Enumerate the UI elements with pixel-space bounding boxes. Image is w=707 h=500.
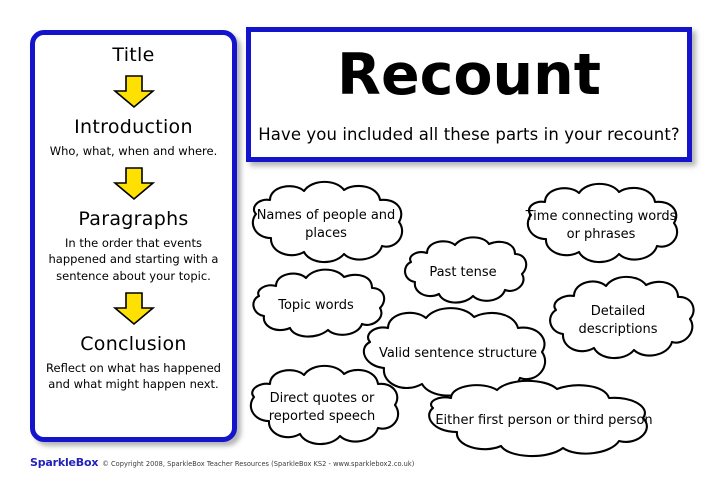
cloud-names-of-people: Names of people and places (236, 180, 416, 270)
step-heading: Conclusion (80, 334, 187, 356)
step-heading: Title (112, 45, 154, 67)
copyright-text: © Copyright 2008, SparkleBox Teacher Res… (102, 460, 414, 468)
step-description: Reflect on what has happened and what mi… (41, 360, 226, 393)
cloud-checklist-area: Names of people and places Time connecti… (236, 170, 702, 460)
step-description: In the order that events happened and st… (41, 235, 226, 284)
down-arrow-icon (112, 75, 156, 109)
step-description: Who, what, when and where. (50, 143, 218, 159)
structure-step-paragraphs: Paragraphs In the order that events happ… (41, 209, 226, 284)
page-subtitle: Have you included all these parts in you… (258, 125, 680, 144)
structure-step-introduction: Introduction Who, what, when and where. (50, 117, 218, 159)
sparklebox-logo: SparkleBox (30, 456, 98, 469)
cloud-time-connecting-words: Time connecting words or phrases (511, 182, 691, 270)
recount-structure-panel: Title Introduction Who, what, when and w… (30, 30, 237, 442)
structure-step-conclusion: Conclusion Reflect on what has happened … (41, 334, 226, 393)
poster-header-box: Recount Have you included all these part… (246, 27, 692, 162)
page-title: Recount (337, 47, 601, 104)
down-arrow-icon (112, 292, 156, 326)
step-heading: Introduction (74, 117, 193, 139)
structure-step-title: Title (112, 45, 154, 67)
cloud-either-first-or-third-person: Either first person or third person (399, 380, 689, 462)
cloud-direct-quotes: Direct quotes or reported speech (236, 364, 408, 452)
footer: SparkleBox © Copyright 2008, SparkleBox … (30, 456, 414, 469)
cloud-past-tense: Past tense (399, 236, 527, 310)
step-heading: Paragraphs (78, 209, 188, 231)
down-arrow-icon (112, 167, 156, 201)
